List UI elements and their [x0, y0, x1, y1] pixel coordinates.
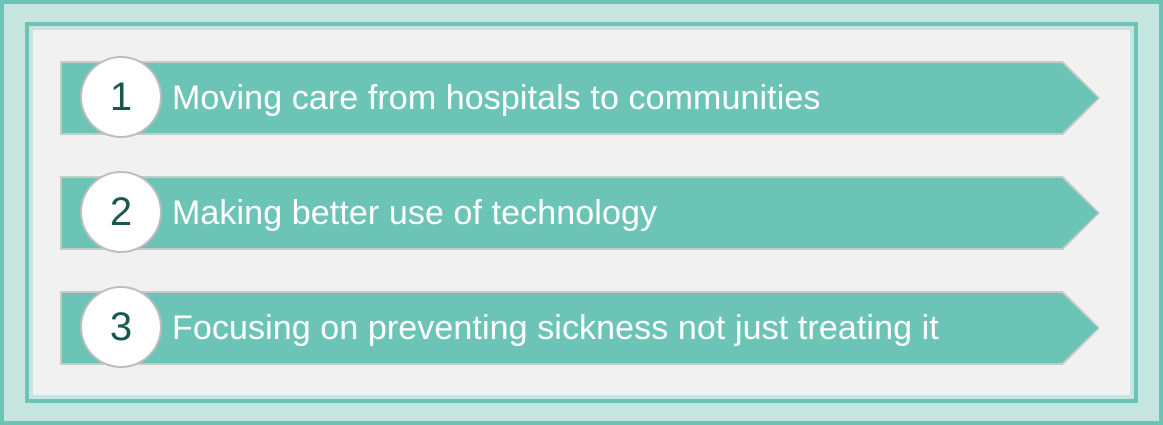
step-arrow-list: Moving care from hospitals to communitie…	[0, 0, 1163, 425]
step-number: 2	[110, 192, 132, 232]
step-label: Focusing on preventing sickness not just…	[172, 293, 939, 363]
step-label: Making better use of technology	[172, 178, 657, 248]
step-number-badge: 3	[80, 286, 162, 368]
step-number: 1	[110, 77, 132, 117]
step-label: Moving care from hospitals to communitie…	[172, 63, 820, 133]
step-number-badge: 2	[80, 171, 162, 253]
step-number-badge: 1	[80, 56, 162, 138]
step-number: 3	[110, 307, 132, 347]
diagram-canvas: Moving care from hospitals to communitie…	[0, 0, 1163, 425]
